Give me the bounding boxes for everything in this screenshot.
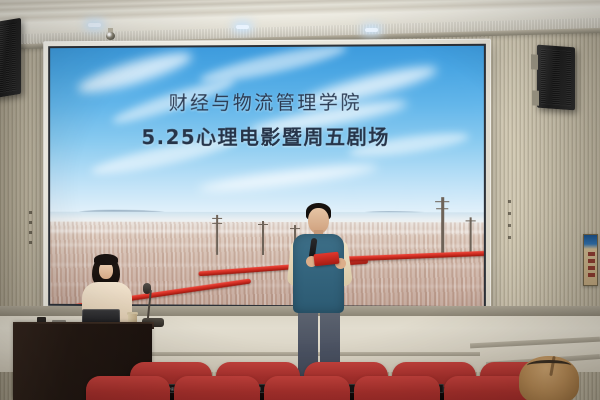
auditorium-seat[interactable]: 排座	[264, 376, 350, 400]
wall-mark	[29, 241, 32, 244]
slide-title-line1: 财经与物流管理学院	[50, 90, 484, 116]
slide-title-line2: 5.25心理电影暨周五剧场	[50, 125, 484, 151]
auditorium-seat[interactable]: 排座	[86, 376, 170, 400]
speaker-jacket	[293, 234, 344, 313]
wall-banner	[583, 234, 598, 286]
slide-title-block: 财经与物流管理学院 5.25心理电影暨周五剧场	[50, 90, 484, 151]
screenshot-root: 财经与物流管理学院 5.25心理电影暨周五剧场	[0, 0, 600, 400]
wall-mark	[508, 236, 511, 239]
auditorium-seat[interactable]: 排座	[354, 376, 440, 400]
wall-mark	[29, 221, 32, 224]
presenter-bangs	[94, 254, 118, 265]
camera-icon	[106, 28, 115, 40]
wall-mark	[508, 224, 511, 227]
slide-utility-pole	[470, 217, 472, 255]
wall-mark	[29, 211, 32, 214]
wall-mark	[508, 200, 511, 203]
audience-headband	[527, 360, 571, 371]
speaker-icon	[537, 45, 575, 111]
ceiling-downlight	[365, 28, 378, 32]
wall-mark	[508, 212, 511, 215]
wall-mark	[29, 231, 32, 234]
speaker-icon	[0, 18, 21, 98]
ceiling-downlight	[88, 23, 101, 27]
slide-utility-pole	[262, 221, 264, 255]
auditorium-seat[interactable]: 排座	[444, 376, 530, 400]
auditorium-seat[interactable]: 排座	[174, 376, 260, 400]
ceiling-downlight	[236, 25, 249, 29]
slide-utility-pole	[441, 197, 444, 255]
slide-utility-pole	[216, 215, 218, 255]
